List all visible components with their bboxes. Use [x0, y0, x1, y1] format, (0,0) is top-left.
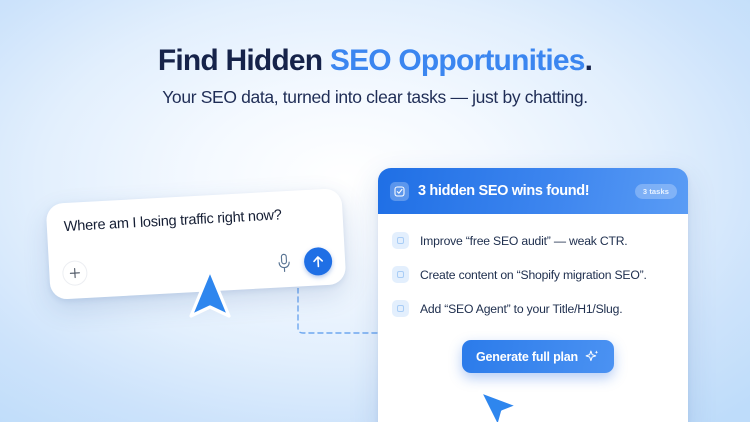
- task-card-header: 3 hidden SEO wins found! 3 tasks: [378, 168, 688, 214]
- hero-text-block: Find Hidden SEO Opportunities. Your SEO …: [0, 44, 750, 108]
- task-label: Add “SEO Agent” to your Title/H1/Slug.: [420, 302, 622, 316]
- checkbox-icon[interactable]: [392, 300, 409, 317]
- plus-icon: [69, 267, 81, 279]
- task-count-badge: 3 tasks: [635, 184, 677, 199]
- generate-full-plan-label: Generate full plan: [476, 350, 578, 364]
- checkbox-check-icon: [390, 182, 409, 201]
- headline-lead: Find Hidden: [158, 44, 330, 77]
- generate-full-plan-button[interactable]: Generate full plan: [462, 340, 614, 373]
- task-list: Improve “free SEO audit” — weak CTR. Cre…: [378, 214, 688, 317]
- voice-input-button[interactable]: [272, 250, 295, 277]
- microphone-icon: [277, 253, 292, 274]
- page-subtitle: Your SEO data, turned into clear tasks —…: [0, 87, 750, 109]
- headline-period: .: [585, 44, 593, 77]
- task-label: Improve “free SEO audit” — weak CTR.: [420, 234, 628, 248]
- checkbox-icon[interactable]: [392, 232, 409, 249]
- page-title: Find Hidden SEO Opportunities.: [0, 44, 750, 78]
- task-row[interactable]: Create content on “Shopify migration SEO…: [392, 266, 674, 283]
- chat-input-card[interactable]: Where am I losing traffic right now?: [46, 188, 347, 300]
- task-row[interactable]: Add “SEO Agent” to your Title/H1/Slug.: [392, 300, 674, 317]
- arrow-up-icon: [311, 254, 326, 269]
- checkbox-check-glyph: [394, 186, 405, 197]
- add-attachment-button[interactable]: [62, 260, 88, 286]
- chat-message-text: Where am I losing traffic right now?: [63, 205, 331, 235]
- task-row[interactable]: Improve “free SEO audit” — weak CTR.: [392, 232, 674, 249]
- headline-accent: SEO Opportunities: [330, 44, 585, 77]
- seo-tasks-card: 3 hidden SEO wins found! 3 tasks Improve…: [378, 168, 688, 422]
- checkbox-icon[interactable]: [392, 266, 409, 283]
- send-message-button[interactable]: [303, 247, 332, 276]
- task-label: Create content on “Shopify migration SEO…: [420, 268, 647, 282]
- task-card-title: 3 hidden SEO wins found!: [418, 183, 589, 199]
- sparkle-star-icon: [585, 349, 600, 364]
